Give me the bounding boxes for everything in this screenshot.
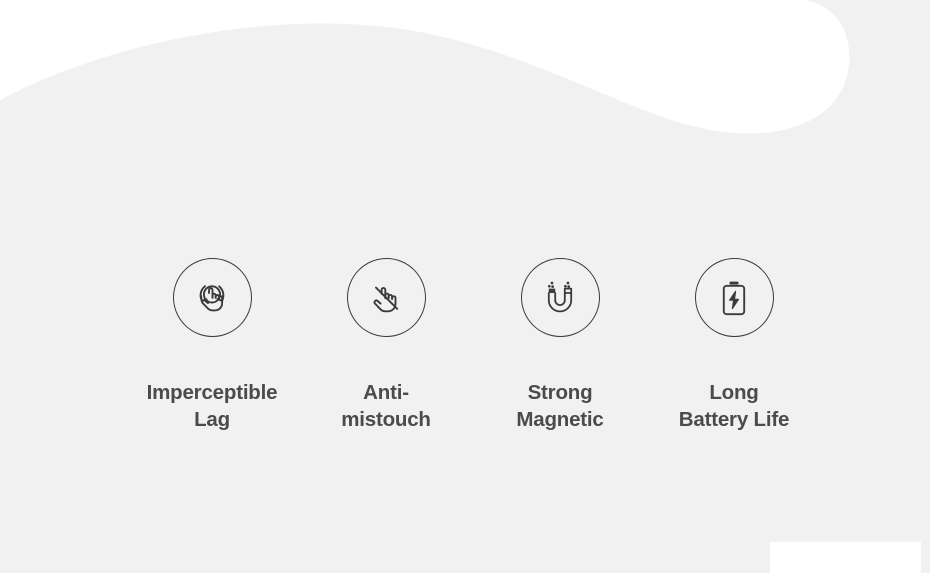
horseshoe-magnet-icon <box>537 275 583 321</box>
feature-label-anti-mistouch: Anti- mistouch <box>341 380 431 433</box>
icon-circle-anti-mistouch <box>347 258 426 337</box>
feature-highlights-page: Imperceptible Lag Anti- mistouch <box>0 0 930 573</box>
icon-circle-imperceptible-lag <box>173 258 252 337</box>
hand-tap-refresh-icon <box>188 274 236 322</box>
hand-tap-slash-icon <box>362 274 410 322</box>
feature-item-strong-magnetic[interactable]: Strong Magnetic <box>473 258 647 433</box>
feature-label-long-battery-life: Long Battery Life <box>679 380 789 433</box>
top-wave-shape <box>0 0 930 160</box>
bottom-right-white-panel <box>770 542 921 573</box>
feature-list: Imperceptible Lag Anti- mistouch <box>0 258 930 433</box>
feature-label-strong-magnetic: Strong Magnetic <box>516 380 603 433</box>
icon-circle-strong-magnetic <box>521 258 600 337</box>
feature-item-anti-mistouch[interactable]: Anti- mistouch <box>299 258 473 433</box>
feature-label-imperceptible-lag: Imperceptible Lag <box>147 380 278 433</box>
icon-circle-long-battery-life <box>695 258 774 337</box>
battery-bolt-icon <box>712 276 756 320</box>
feature-item-long-battery-life[interactable]: Long Battery Life <box>647 258 821 433</box>
feature-item-imperceptible-lag[interactable]: Imperceptible Lag <box>125 258 299 433</box>
